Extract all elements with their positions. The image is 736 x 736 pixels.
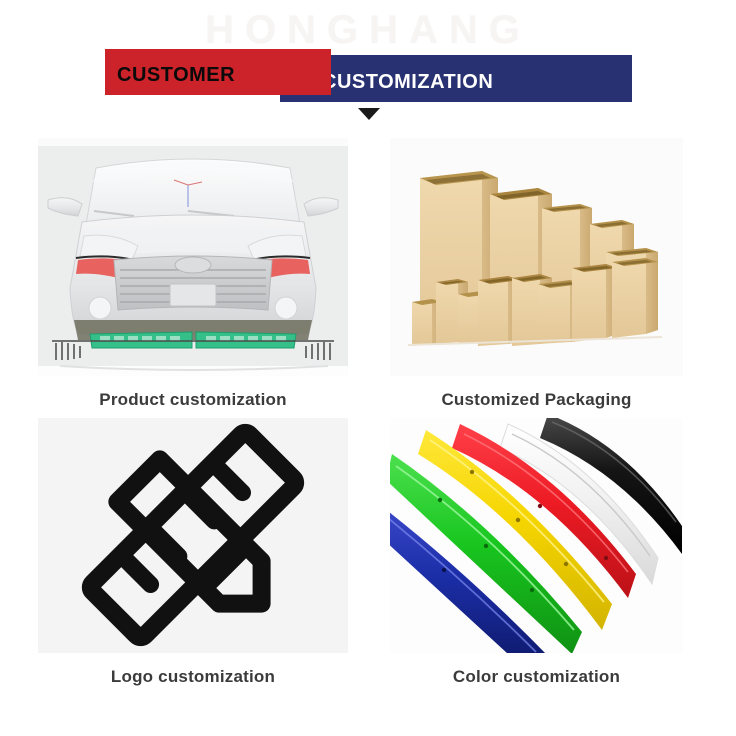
color-image-panel [390, 418, 683, 653]
car-front-cad-render [38, 138, 348, 376]
colored-bumper-trim-strips [390, 418, 683, 653]
card-product-customization[interactable]: Product customization [38, 138, 348, 418]
packaging-image-panel [390, 138, 683, 376]
caption-customized-packaging: Customized Packaging [390, 390, 683, 410]
banner-red-block: CUSTOMER [105, 49, 331, 95]
caption-logo-customization: Logo customization [38, 667, 348, 687]
caption-product-customization: Product customization [38, 390, 348, 410]
box-f8 [612, 258, 658, 338]
product-image-panel [38, 138, 348, 376]
caption-color-customization: Color customization [390, 667, 683, 687]
cardboard-boxes-set [390, 138, 683, 376]
triangle-down-icon [358, 108, 380, 120]
card-logo-customization[interactable]: Logo customization [38, 418, 348, 693]
banner-customer-label: CUSTOMER [117, 58, 235, 86]
card-color-customization[interactable]: Color customization [390, 418, 683, 693]
banner-blue-block: CUSTOMIZATION [280, 55, 632, 102]
honghang-watermark: HONGHANG [0, 8, 736, 53]
card-customized-packaging[interactable]: Customized Packaging [390, 138, 683, 418]
page-header: HONGHANG CUSTOMER CUSTOMIZATION [0, 0, 736, 130]
box-f7 [572, 264, 618, 342]
logo-image-panel [38, 418, 348, 653]
banner-customization-label: CUSTOMIZATION [322, 65, 493, 93]
pencil-ruler-cross-icon [38, 418, 348, 653]
